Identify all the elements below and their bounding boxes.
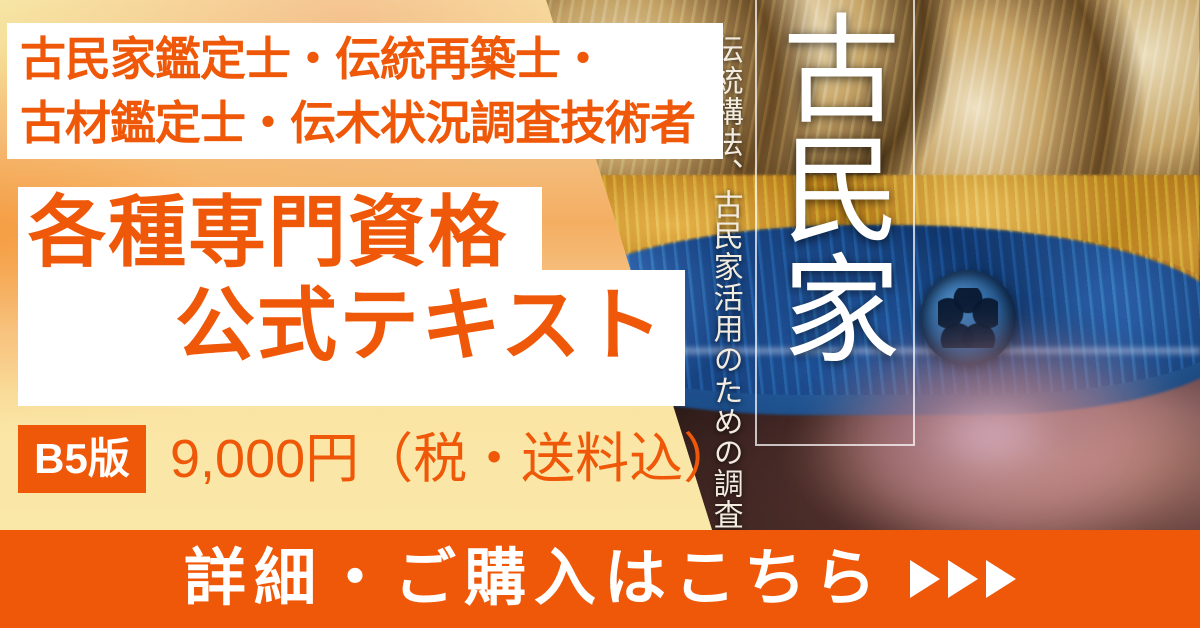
triangle-right-icon [986,560,1016,598]
headline-line-2: 古材鑑定士・伝木状況調査技術者 [7,91,723,155]
cta-arrows [910,560,1016,598]
book-title-vertical: 古民家 [768,8,902,448]
promo-banner: 古民家 伝統構法、古民家活用のための調査と再生の 古民家鑑定士・伝統再築士・ 古… [0,0,1200,628]
cta-bar[interactable]: 詳細・ご購入はこちら [0,530,1200,628]
hero-line-1: 各種専門資格 [28,186,508,278]
headline-box: 古民家鑑定士・伝統再築士・ 古材鑑定士・伝木状況調査技術者 [7,23,723,159]
format-badge: B5版 [18,425,146,493]
cta-label: 詳細・ご購入はこちら [184,548,884,610]
format-badge-label: B5版 [34,438,130,480]
triangle-right-icon [910,560,940,598]
price-text: 9,000円（税・送料込） [170,427,737,491]
triangle-right-icon [948,560,978,598]
hero-line-2: 公式テキスト [175,278,665,374]
headline-line-1: 古民家鑑定士・伝統再築士・ [7,23,723,91]
